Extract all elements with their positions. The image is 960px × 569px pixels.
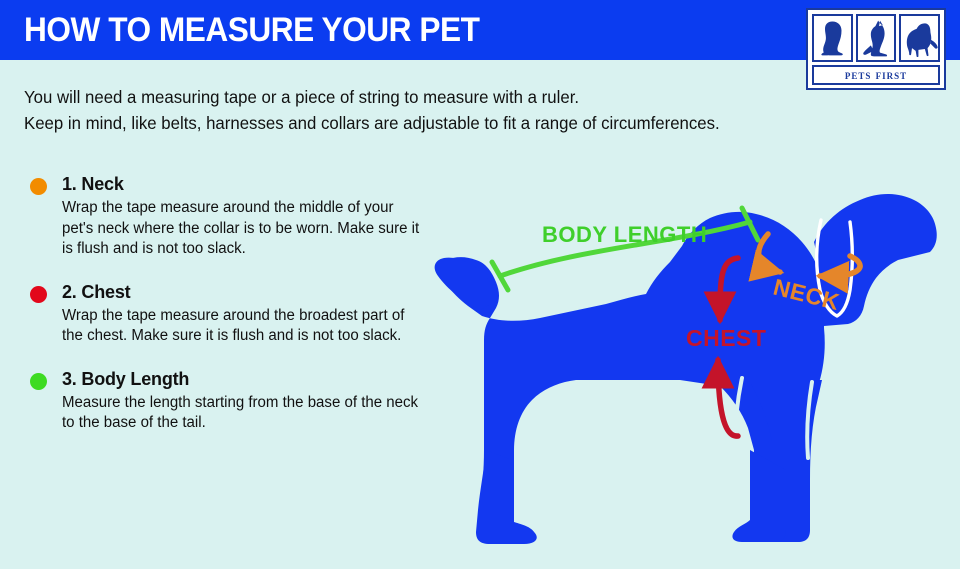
- step-bullet-neck: [30, 178, 47, 195]
- howling-dog-silhouette-icon: [856, 14, 897, 62]
- intro-line-2: Keep in mind, like belts, harnesses and …: [24, 110, 821, 136]
- step-title-chest: 2. Chest: [62, 280, 436, 304]
- step-bullet-body-length: [30, 373, 47, 390]
- step-body-chest: Wrap the tape measure around the broades…: [62, 306, 425, 347]
- body-length-label: BODY LENGTH: [542, 222, 707, 247]
- brand-logo: Pets First: [806, 8, 946, 90]
- standing-dog-silhouette-icon: [899, 14, 940, 62]
- step-item-chest: 2. Chest Wrap the tape measure around th…: [26, 280, 436, 347]
- infographic-page: HOW TO MEASURE YOUR PET Pets First: [0, 0, 960, 569]
- sitting-dog-silhouette-icon: [812, 14, 853, 62]
- step-title-body-length: 3. Body Length: [62, 367, 436, 391]
- page-title: HOW TO MEASURE YOUR PET: [24, 9, 479, 51]
- dog-measurement-diagram: BODY LENGTH NECK CHEST: [420, 150, 960, 569]
- step-title-neck: 1. Neck: [62, 172, 436, 196]
- logo-panels: [812, 14, 940, 62]
- steps-list: 1. Neck Wrap the tape measure around the…: [26, 172, 436, 454]
- step-body-neck: Wrap the tape measure around the middle …: [62, 198, 425, 260]
- step-item-neck: 1. Neck Wrap the tape measure around the…: [26, 172, 436, 260]
- step-item-body-length: 3. Body Length Measure the length starti…: [26, 367, 436, 434]
- step-bullet-chest: [30, 286, 47, 303]
- intro-line-1: You will need a measuring tape or a piec…: [24, 84, 821, 110]
- logo-wordmark: Pets First: [812, 65, 940, 85]
- chest-label: CHEST: [686, 325, 766, 351]
- step-body-body-length: Measure the length starting from the bas…: [62, 393, 425, 434]
- intro-text: You will need a measuring tape or a piec…: [24, 84, 854, 136]
